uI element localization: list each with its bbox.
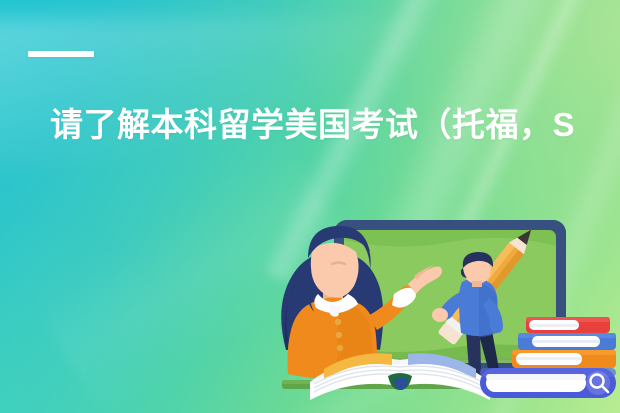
search-icon[interactable] [586, 371, 610, 395]
search-bar[interactable] [480, 368, 616, 398]
book-stack [512, 317, 616, 368]
decorative-dash [28, 51, 94, 57]
online-education-illustration [276, 198, 620, 413]
page-title: 请了解本科留学美国考试（托福，S [50, 104, 620, 146]
list-item [526, 317, 610, 333]
list-item [518, 333, 616, 350]
education-banner: 请了解本科留学美国考试（托福，S [0, 0, 620, 413]
list-item [512, 350, 616, 368]
